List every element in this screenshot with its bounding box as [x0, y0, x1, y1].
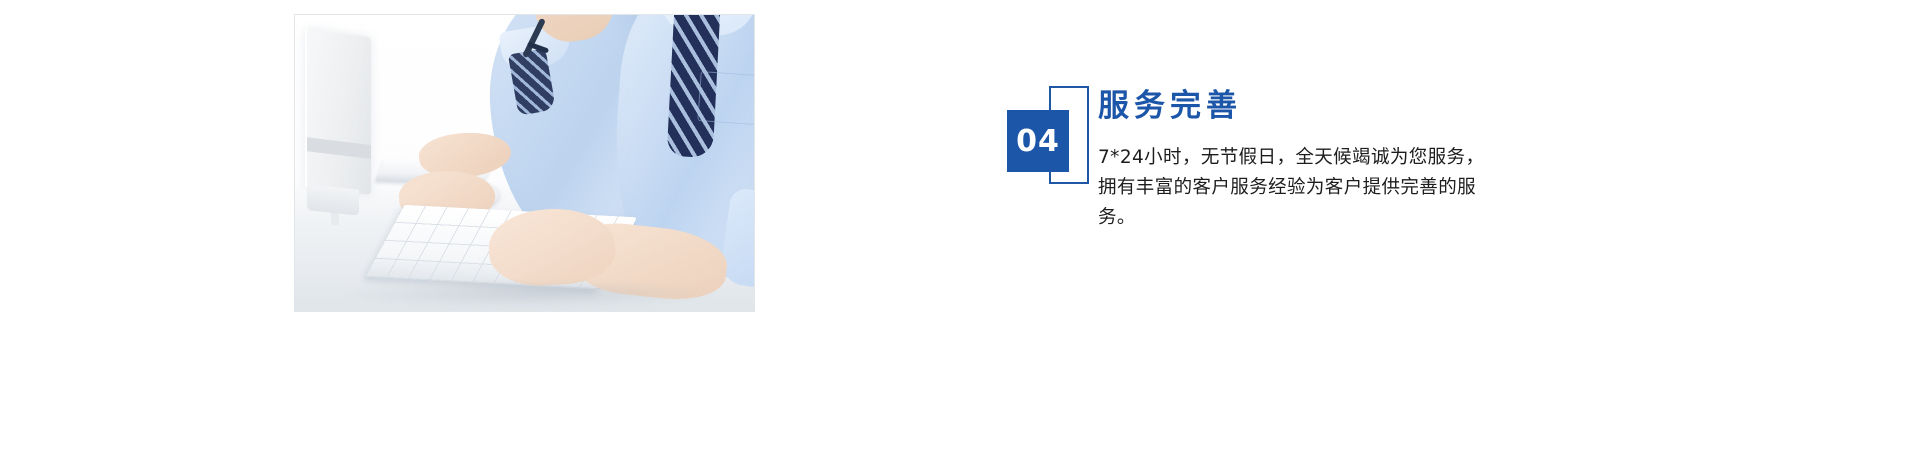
service-feature-banner: 04 服务完善 7*24小时，无节假日，全天候竭诚为您服务，拥有丰富的客户服务经…: [0, 0, 1920, 452]
badge-number: 04: [1007, 110, 1069, 172]
computer-monitor-icon: [305, 29, 371, 195]
feature-description: 7*24小时，无节假日，全天候竭诚为您服务，拥有丰富的客户服务经验为客户提供完善…: [1098, 143, 1490, 233]
monitor-chin: [307, 137, 371, 159]
feature-title: 服务完善: [1098, 86, 1558, 126]
agent-front-shirt-pocket: [697, 71, 754, 125]
photo-canvas: [295, 15, 754, 311]
step-badge: 04: [1005, 86, 1091, 196]
desk-shadow: [341, 281, 717, 307]
team-photo: [294, 14, 755, 312]
feature-text-block: 服务完善 7*24小时，无节假日，全天候竭诚为您服务，拥有丰富的客户服务经验为客…: [1098, 86, 1558, 233]
monitor-base: [307, 184, 359, 215]
feature-content: 04 服务完善 7*24小时，无节假日，全天候竭诚为您服务，拥有丰富的客户服务经…: [1005, 86, 1565, 266]
